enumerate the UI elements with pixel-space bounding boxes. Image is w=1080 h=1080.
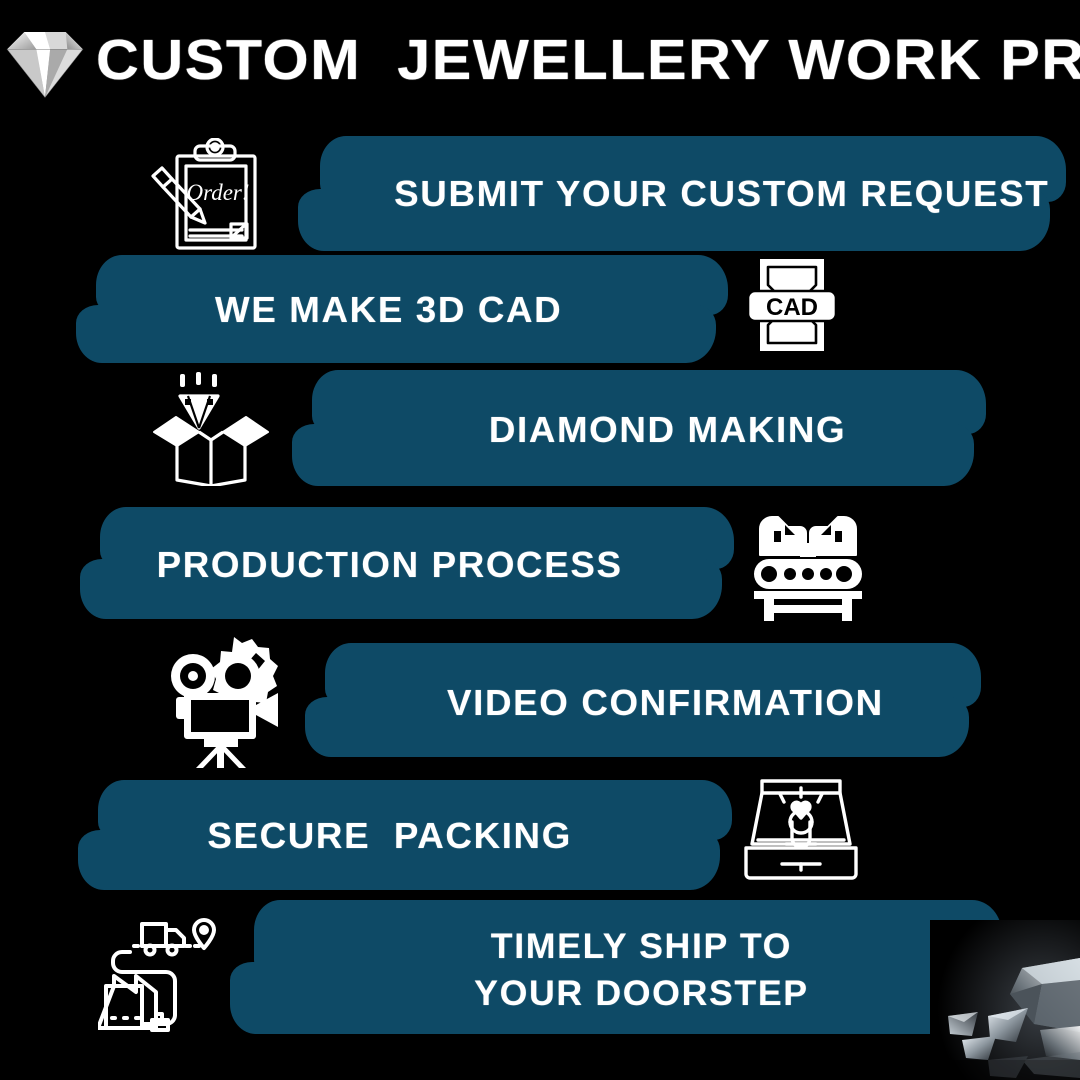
cad-document-icon: CAD [738,255,846,355]
header: CUSTOM JEWELLERY WORK PROCESS [0,0,1080,120]
clipboard-order-text: Order! [186,180,249,205]
step-banner-6[interactable]: SECURE PACKING [78,780,738,892]
step-banner-3[interactable]: DIAMOND MAKING [292,370,990,490]
open-box-diamond-icon [150,368,272,486]
factory-truck-route-icon [98,908,224,1036]
step-row-4: PRODUCTION PROCESS [0,505,1080,625]
step-banner-7[interactable]: TIMELY SHIP TO YOUR DOORSTEP [230,900,1008,1040]
step-row-1: Order! SUBMIT YOUR CUSTOM REQUEST [0,130,1080,260]
step-row-3: DIAMOND MAKING [0,368,1080,493]
step-row-7: TIMELY SHIP TO YOUR DOORSTEP [0,900,1080,1045]
step-label-1: SUBMIT YOUR CUSTOM REQUEST [290,134,1075,254]
conveyor-robot-arms-icon [748,505,868,623]
step-label-7-line2: YOUR DOORSTEP [474,970,809,1017]
infographic-canvas: CUSTOM JEWELLERY WORK PROCESS [0,0,1080,1080]
step-banner-2[interactable]: WE MAKE 3D CAD [76,255,736,365]
step-banner-1[interactable]: SUBMIT YOUR CUSTOM REQUEST [298,134,1068,254]
cad-label-text: CAD [766,294,818,321]
step-label-7-line1: TIMELY SHIP TO [491,923,792,970]
ring-box-icon [738,776,864,886]
step-banner-4[interactable]: PRODUCTION PROCESS [80,507,740,622]
step-banner-5[interactable]: VIDEO CONFIRMATION [305,643,985,763]
step-row-2: WE MAKE 3D CAD CAD [0,255,1080,365]
clipboard-order-pencil-icon: Order! [135,138,270,253]
step-label-6: SECURE PACKING [71,780,744,892]
movie-camera-check-icon [160,635,288,768]
step-label-2: WE MAKE 3D CAD [69,255,742,365]
diamond-gem-icon [2,20,88,100]
step-label-3: DIAMOND MAKING [285,370,997,490]
step-row-5: VIDEO CONFIRMATION [0,635,1080,770]
page-title: CUSTOM JEWELLERY WORK PROCESS [96,32,1080,89]
step-row-6: SECURE PACKING [0,780,1080,895]
step-label-4: PRODUCTION PROCESS [73,507,746,622]
step-label-7: TIMELY SHIP TO YOUR DOORSTEP [222,900,1016,1040]
step-label-5: VIDEO CONFIRMATION [298,643,992,763]
